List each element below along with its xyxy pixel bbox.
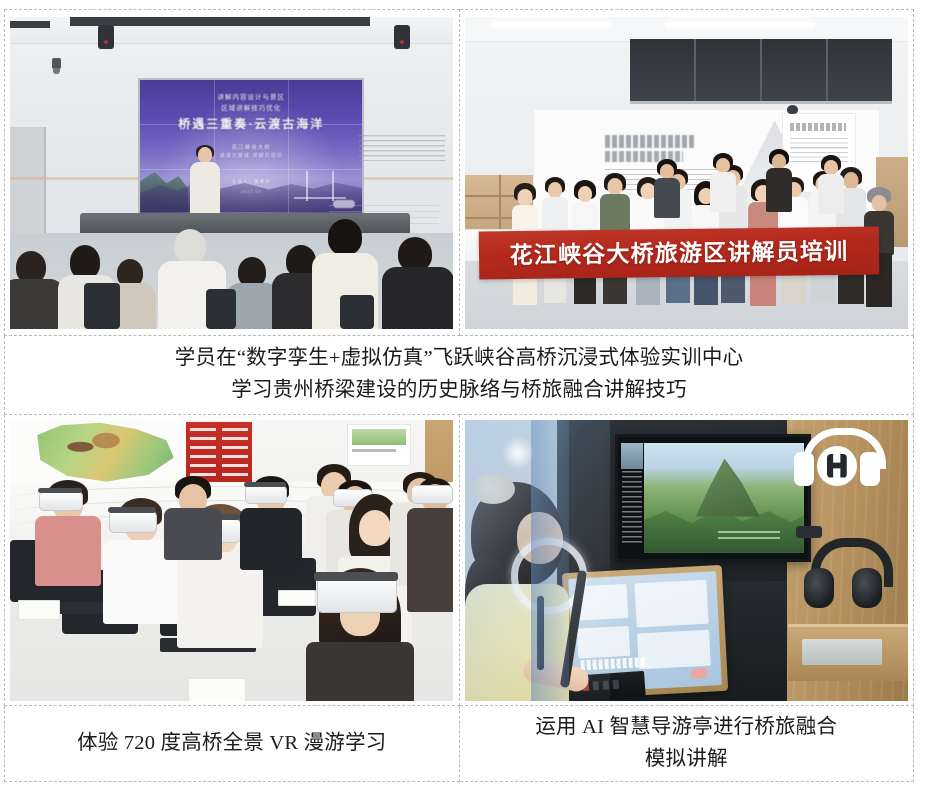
laptop-on-shelf	[802, 639, 882, 665]
trainee-torso	[35, 516, 101, 586]
speaker-icon	[394, 25, 410, 49]
person-head	[660, 164, 674, 179]
vr-headset	[246, 486, 286, 503]
training-banner: 花江峡谷大桥旅游区讲解员培训	[478, 226, 879, 279]
panel-line	[222, 428, 248, 431]
caption-bottom-right: 运用 AI 智慧导游亭进行桥旅融合 模拟讲解	[460, 710, 914, 778]
cell-photo-vr-classroom	[5, 415, 460, 706]
headphone-earcup-left	[804, 568, 834, 608]
caption-bottom-right-line-2: 模拟讲解	[470, 744, 904, 776]
speaker-icon	[98, 25, 114, 49]
caption-top-line-2: 学习贵州桥梁建设的历史脉络与桥旅融合讲解技巧	[15, 375, 903, 407]
banner-text: 花江峡谷大桥旅游区讲解员培训	[479, 250, 879, 255]
headphone-logo-icon	[794, 426, 880, 504]
cell-photo-lecture-hall: 讲解内容设计与景区 区域讲解技巧优化 桥遇三重奏·云渡古海洋 花江峡谷大桥 旅游…	[5, 10, 460, 336]
audience-head	[70, 245, 100, 279]
photo-grid-table: 讲解内容设计与景区 区域讲解技巧优化 桥遇三重奏·云渡古海洋 花江峡谷大桥 旅游…	[4, 9, 914, 782]
lecture-hall-training-photo: 讲解内容设计与景区 区域讲解技巧优化 桥遇三重奏·云渡古海洋 花江峡谷大桥 旅游…	[10, 17, 453, 329]
panel-line	[222, 464, 248, 467]
ceiling-light	[491, 22, 611, 27]
person-head	[871, 195, 886, 211]
presenter-body	[190, 162, 220, 216]
window-mullion	[826, 39, 828, 101]
kiosk-display-monitor	[615, 434, 811, 562]
audience-cap	[174, 229, 206, 263]
person-head	[824, 160, 838, 175]
window-mullion	[694, 39, 696, 101]
wall-text-panel	[359, 135, 445, 161]
video-wall-seam	[140, 169, 362, 170]
panel-title-text	[790, 123, 846, 131]
light-flare	[501, 436, 535, 470]
door-frame	[10, 127, 46, 247]
caption-bottom-right-line-1: 运用 AI 智慧导游亭进行桥旅融合	[470, 712, 904, 744]
cell-caption-top: 学员在“数字孪生+虚拟仿真”飞跃峡谷高桥沉浸式体验实训中心 学习贵州桥梁建设的历…	[5, 336, 914, 415]
caption-row-top: 学员在“数字孪生+虚拟仿真”飞跃峡谷高桥沉浸式体验实训中心 学习贵州桥梁建设的历…	[5, 336, 914, 415]
cell-photo-ai-kiosk	[459, 415, 914, 706]
person-torso	[766, 168, 792, 212]
trainee-torso	[306, 642, 414, 701]
audience-head	[16, 251, 46, 283]
headphone-earcup-right	[852, 568, 882, 608]
vr-trainee-foreground	[300, 568, 420, 701]
vr-headset	[412, 486, 452, 503]
image-wrapper-vr-classroom	[7, 420, 456, 701]
panel-line	[222, 446, 248, 449]
figure-page: 讲解内容设计与景区 区域讲解技巧优化 桥遇三重奏·云渡古海洋 花江峡谷大桥 旅游…	[0, 0, 926, 788]
glass-reflection-overlay	[465, 420, 610, 701]
trainee-head	[359, 510, 391, 546]
dome-camera-icon	[787, 105, 798, 114]
video-wall-screen: 讲解内容设计与景区 区域讲解技巧优化 桥遇三重奏·云渡古海洋 花江峡谷大桥 旅游…	[140, 80, 362, 213]
group-member-back-row	[709, 153, 737, 213]
monitor-sidebar-text	[622, 471, 642, 545]
panel-line	[190, 428, 216, 431]
logo-earcup-left	[794, 452, 814, 486]
group-member-back-row	[817, 155, 845, 215]
action-button[interactable]	[691, 667, 708, 678]
window-rail	[630, 101, 892, 104]
shelf-divider	[499, 175, 501, 237]
caption-bottom-left-line-1: 体验 720 度高桥全景 VR 漫游学习	[15, 728, 449, 760]
headphone-hook	[796, 526, 822, 538]
chair	[84, 283, 120, 329]
vr-headset-classroom-photo	[10, 420, 453, 701]
presenter-figure	[188, 147, 222, 215]
person-head	[716, 158, 730, 173]
monitor-scenic-view	[644, 443, 804, 553]
vr-headset	[40, 492, 82, 510]
monitor-mountain-peak	[696, 459, 760, 517]
mezzanine-window	[630, 39, 892, 104]
audience-member	[380, 231, 453, 329]
window-mullion	[760, 39, 762, 101]
notebook	[188, 678, 246, 701]
person-head	[517, 189, 532, 206]
panel-line	[190, 464, 216, 467]
person-head	[843, 172, 858, 189]
card-label	[352, 449, 396, 452]
camera-icon	[52, 58, 61, 69]
monitor-caption-text	[718, 531, 780, 543]
person-head	[772, 154, 786, 169]
wall-photo-card	[347, 424, 411, 466]
chair	[206, 289, 236, 329]
image-wrapper-lecture-hall: 讲解内容设计与景区 区域讲解技巧优化 桥遇三重奏·云渡古海洋 花江峡谷大桥 旅游…	[7, 17, 456, 329]
group-member-back-row	[765, 149, 793, 213]
vr-trainee	[30, 480, 106, 620]
video-wall-seam	[140, 124, 362, 125]
person-torso	[710, 172, 736, 212]
card-image	[352, 429, 406, 445]
group-member-back-row	[653, 159, 681, 219]
person-torso	[654, 178, 680, 218]
vr-headset	[110, 512, 156, 532]
trainee-torso	[240, 508, 302, 570]
headset-strap	[38, 488, 82, 493]
caption-bottom-left: 体验 720 度高桥全景 VR 漫游学习	[5, 726, 459, 762]
vr-trainee	[236, 476, 306, 586]
audience-head	[398, 237, 432, 271]
caption-row-bottom: 体验 720 度高桥全景 VR 漫游学习 运用 AI 智慧导游亭进行桥旅融合 模…	[5, 706, 914, 782]
wood-shelf	[788, 624, 908, 681]
cell-caption-bottom-right: 运用 AI 智慧导游亭进行桥旅融合 模拟讲解	[459, 706, 914, 782]
bridge-deck	[294, 197, 346, 199]
audience-shoulders	[382, 267, 453, 329]
ui-card[interactable]	[637, 629, 711, 669]
panel-line	[190, 437, 216, 440]
chair	[340, 295, 374, 329]
audience-head	[328, 219, 362, 255]
cell-photo-group-banner: 花江峡谷大桥旅游区讲解员培训	[459, 10, 914, 336]
ceiling-light	[665, 22, 815, 27]
ceiling-beam	[70, 17, 370, 26]
ceiling-beam-left	[10, 21, 50, 28]
panel-line	[222, 437, 248, 440]
monitor-thumbnail	[621, 443, 643, 469]
trainee-torso	[164, 508, 222, 560]
person-torso	[818, 174, 844, 214]
headset-strap	[108, 507, 156, 513]
logo-earcup-right	[860, 452, 880, 486]
headphones	[804, 538, 882, 620]
video-wall-seam	[288, 80, 289, 213]
person-head	[578, 186, 592, 202]
panel-line	[190, 446, 216, 449]
image-wrapper-group-banner: 花江峡谷大桥旅游区讲解员培训	[462, 17, 911, 329]
ai-guide-kiosk-photo	[465, 420, 908, 701]
image-wrapper-ai-kiosk	[462, 420, 911, 701]
key[interactable]	[612, 679, 619, 688]
wall-headline-text	[605, 135, 695, 148]
presenter-head	[198, 147, 212, 163]
vr-headset	[318, 578, 396, 612]
caption-top-line-1: 学员在“数字孪生+虚拟仿真”飞跃峡谷高桥沉浸式体验实训中心	[15, 343, 903, 375]
caption-top: 学员在“数字孪生+虚拟仿真”飞跃峡谷高桥沉浸式体验实训中心 学习贵州桥梁建设的历…	[5, 341, 913, 409]
vr-trainee	[160, 476, 226, 560]
headset-strap	[244, 482, 286, 487]
panel-line	[190, 455, 216, 458]
photo-row-top: 讲解内容设计与景区 区域讲解技巧优化 桥遇三重奏·云渡古海洋 花江峡谷大桥 旅游…	[5, 10, 914, 336]
panel-line	[222, 455, 248, 458]
headset-strap	[314, 572, 398, 581]
person-head	[548, 182, 562, 198]
ui-card[interactable]	[634, 579, 708, 627]
person-head	[607, 178, 622, 195]
photo-row-bottom	[5, 415, 914, 706]
group-photo-with-banner: 花江峡谷大桥旅游区讲解员培训	[465, 17, 908, 329]
cell-caption-bottom-left: 体验 720 度高桥全景 VR 漫游学习	[5, 706, 460, 782]
